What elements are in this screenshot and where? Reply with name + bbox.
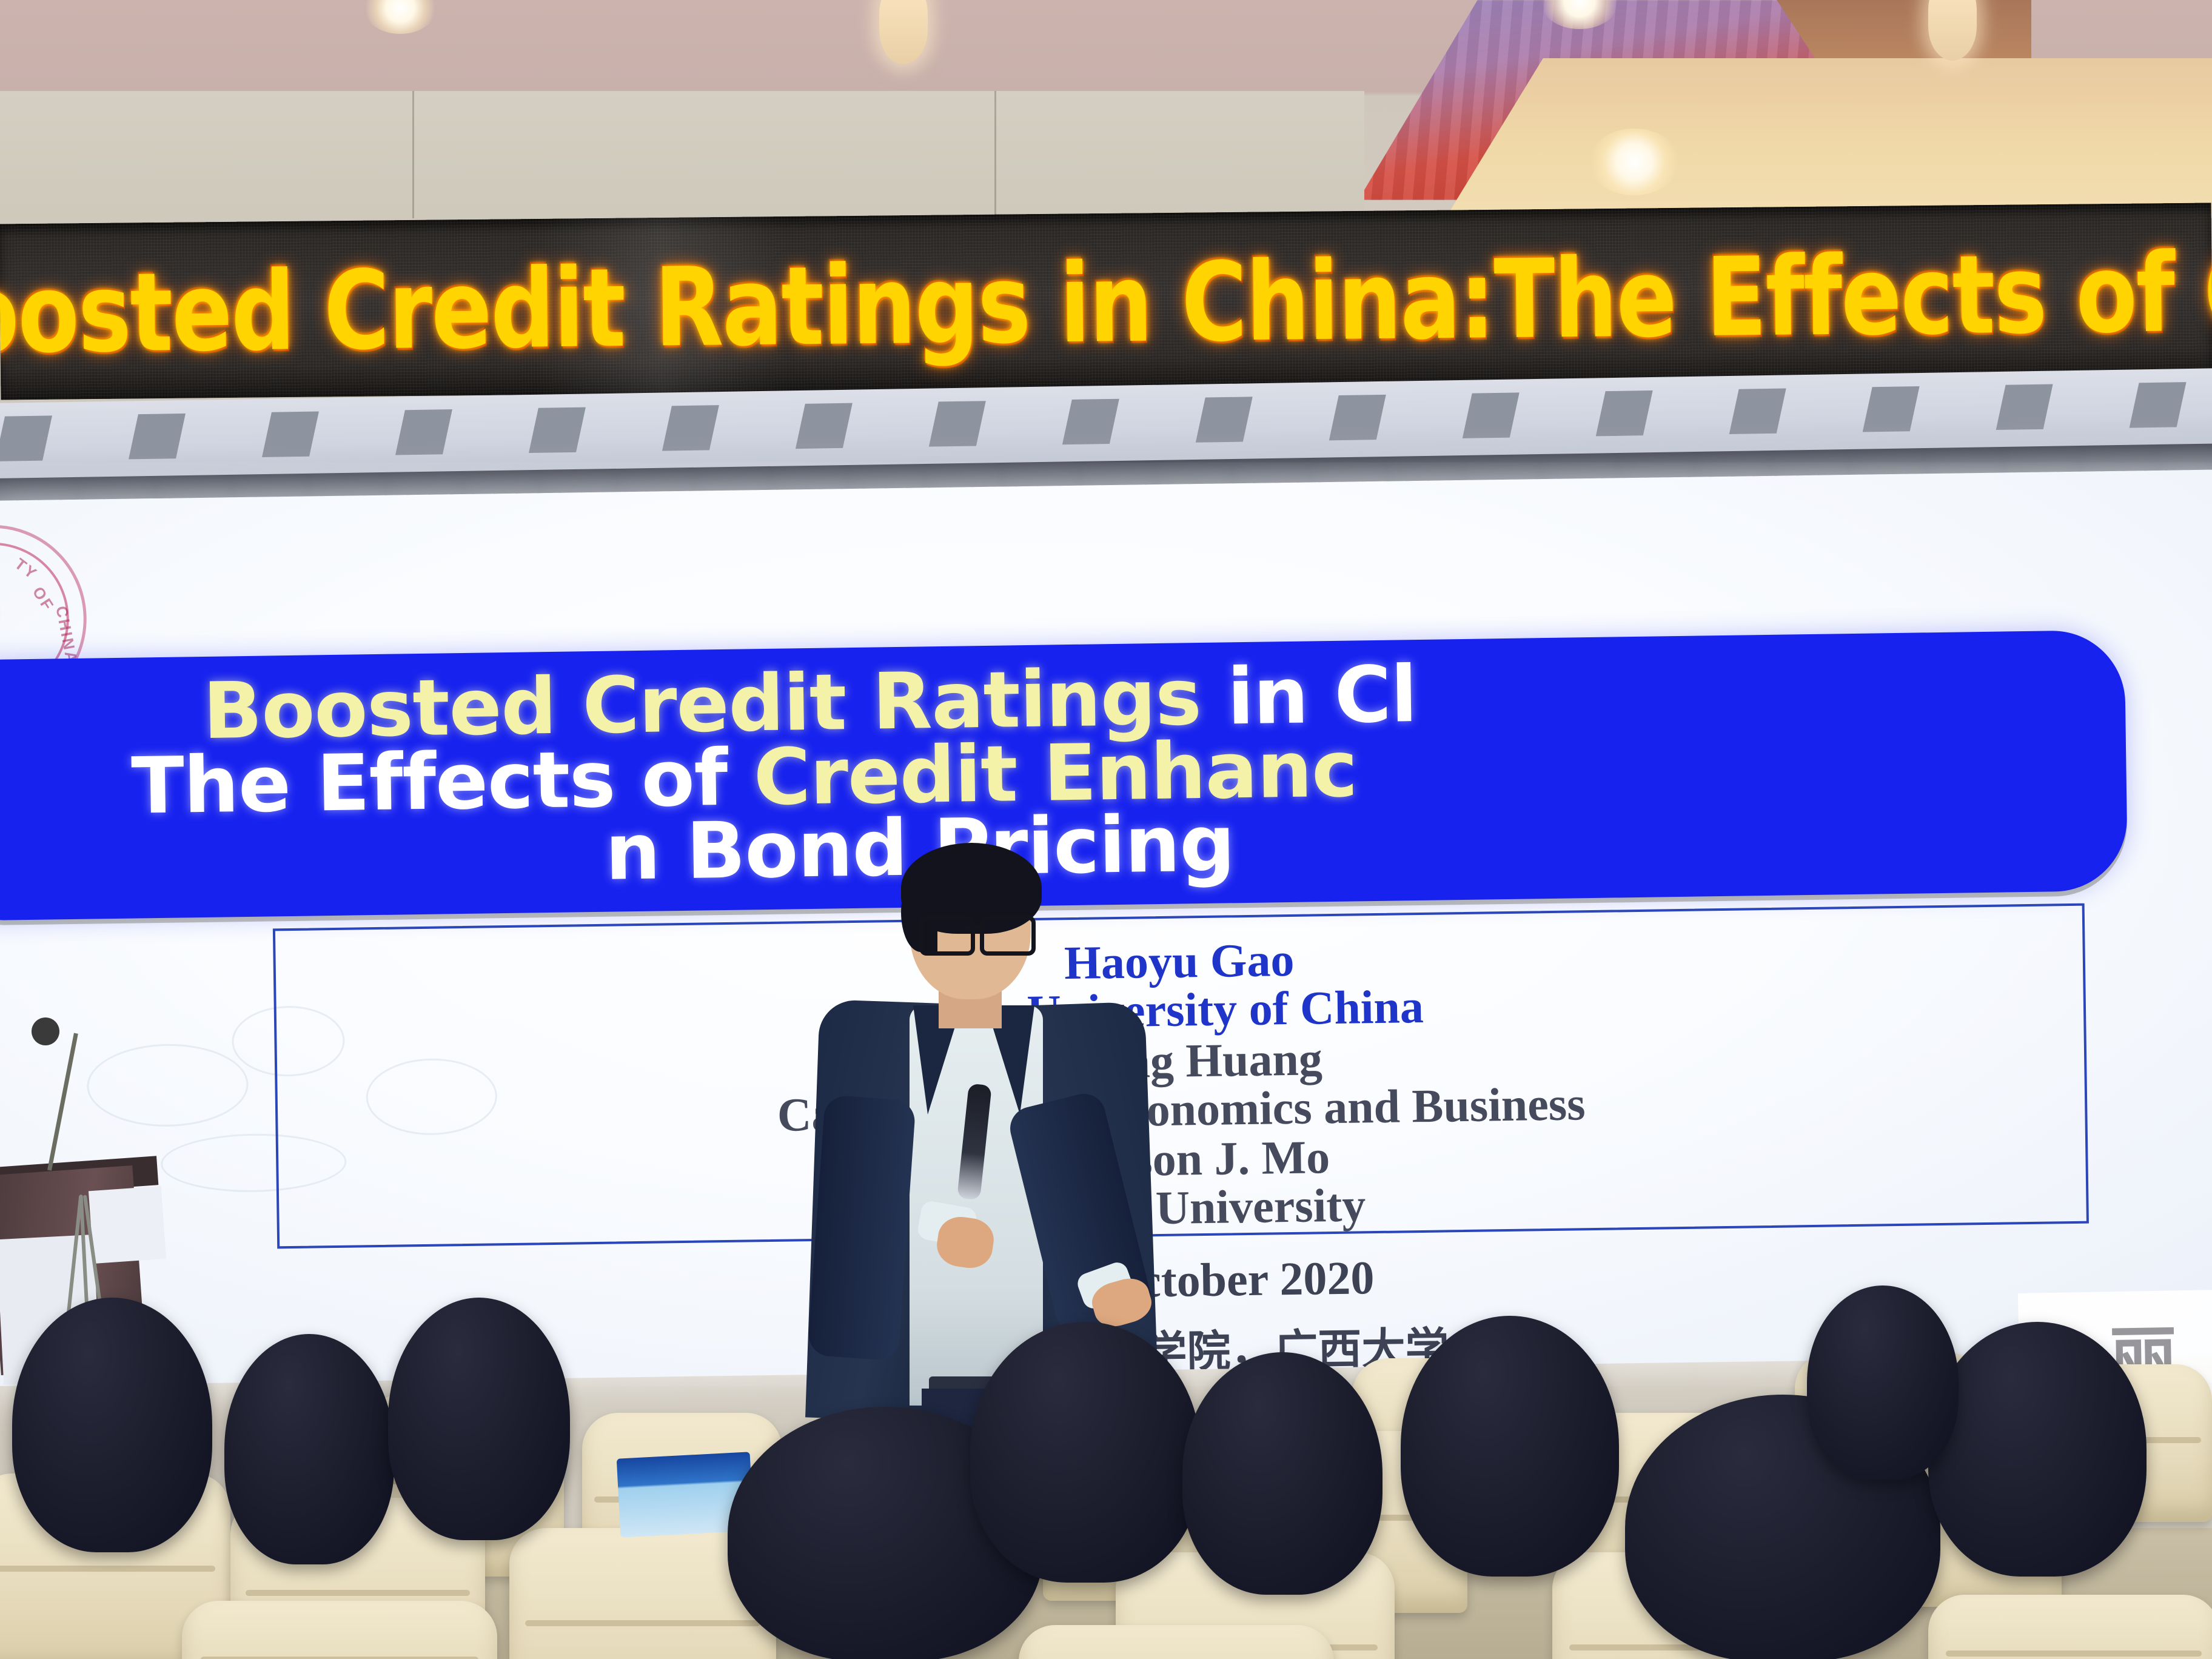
lecture-hall-photo: oosted Credit Ratings in China:The Effec… <box>0 0 2212 1659</box>
audience-head <box>1807 1285 1959 1480</box>
ceiling-spotlight-main <box>1589 129 1680 195</box>
led-banner-text: oosted Credit Ratings in China:The Effec… <box>0 229 2212 378</box>
speaker-arm-left <box>807 1094 916 1361</box>
lectern-side-panel <box>89 1186 166 1264</box>
podium-microphone-head <box>32 1017 59 1045</box>
audience-head <box>224 1334 394 1564</box>
auditorium-seat <box>1019 1625 1334 1659</box>
title-word: n <box>605 806 660 897</box>
led-scrolling-banner: oosted Credit Ratings in China:The Effec… <box>0 203 2212 400</box>
audience-head <box>388 1298 570 1540</box>
title-word: The <box>131 739 291 832</box>
speaker-presenter <box>794 843 1219 1389</box>
auditorium-seat <box>182 1601 497 1659</box>
audience-head <box>970 1322 1201 1583</box>
audience-head <box>12 1298 212 1552</box>
ceiling-yellow-panel <box>1443 58 2212 218</box>
audience-head <box>1182 1352 1382 1595</box>
upper-wall <box>0 91 1364 218</box>
title-word: Effects <box>316 735 615 829</box>
glasses-icon <box>919 916 1031 947</box>
ceiling <box>0 0 2212 218</box>
audience-head <box>1401 1316 1619 1577</box>
auditorium-seat <box>1928 1595 2212 1659</box>
audience-head <box>1928 1322 2147 1577</box>
